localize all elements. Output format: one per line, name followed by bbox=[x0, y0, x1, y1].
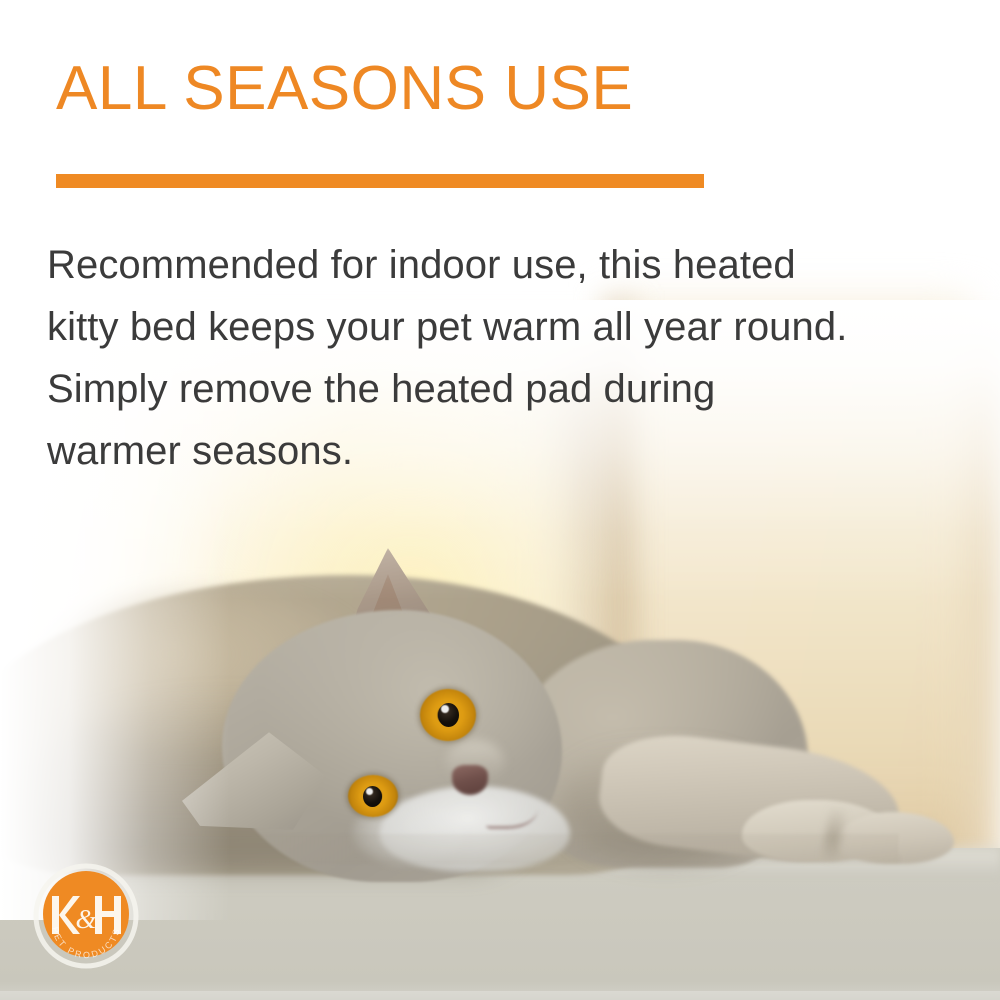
description-text: Recommended for indoor use, this heated … bbox=[47, 234, 977, 482]
product-feature-card: ALL SEASONS USE Recommended for indoor u… bbox=[0, 0, 1000, 1000]
description-line: Recommended for indoor use, this heated bbox=[47, 234, 977, 296]
description-line: Simply remove the heated pad during bbox=[47, 358, 977, 420]
description-line: kitty bed keeps your pet warm all year r… bbox=[47, 296, 977, 358]
cat-photograph bbox=[0, 0, 1000, 1000]
description-line: warmer seasons. bbox=[47, 420, 977, 482]
brand-logo[interactable]: & PET PRODUCTS bbox=[30, 862, 142, 974]
cat-eye-glint-upper bbox=[441, 705, 449, 713]
floor-bottom-edge bbox=[0, 991, 1000, 1000]
svg-text:&: & bbox=[75, 904, 96, 934]
cat-fur-contact-edge bbox=[140, 834, 900, 864]
page-title: ALL SEASONS USE bbox=[56, 58, 633, 120]
cat-eye-glint-lower bbox=[366, 788, 373, 795]
title-divider-rule bbox=[56, 174, 704, 188]
